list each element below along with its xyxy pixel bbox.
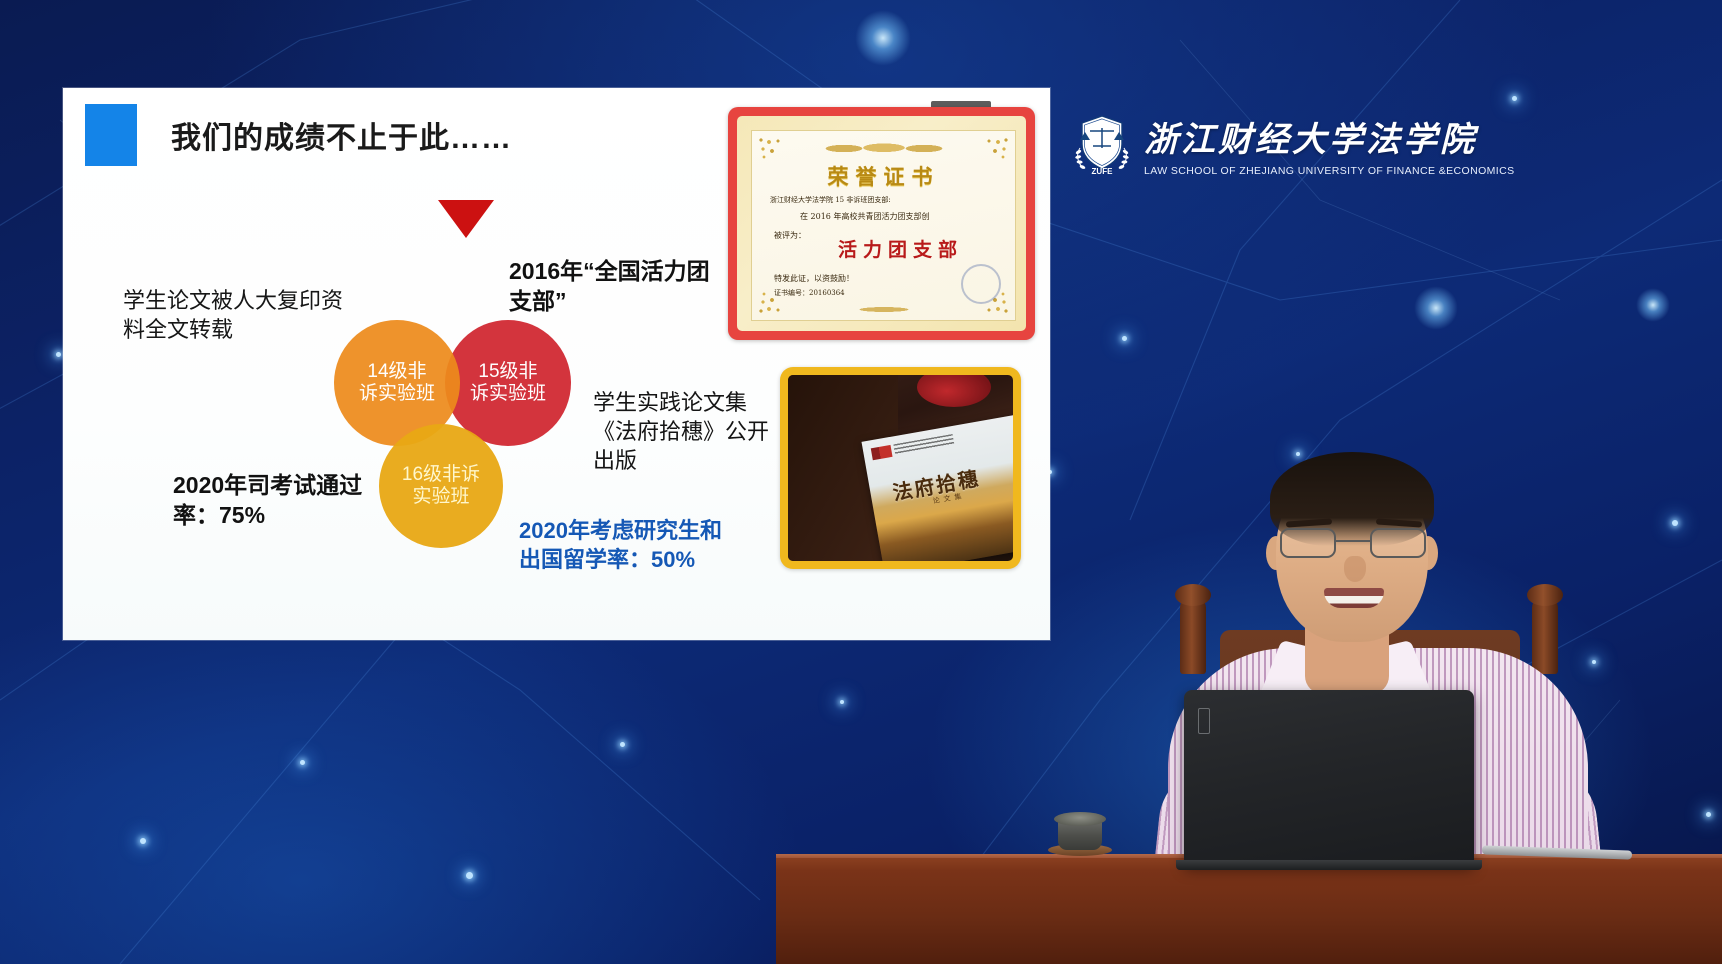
certificate-line-3: 被评为：: [774, 230, 806, 241]
svg-text:ZUFE: ZUFE: [1092, 167, 1114, 176]
slide-title-row: 我们的成绩不止于此……: [85, 104, 512, 166]
callout-graduate-study: 2020年考虑研究生和出国留学率：50%: [519, 516, 734, 574]
book-photo: 法府拾穗 论 文 集: [788, 375, 1013, 561]
venn-label-class16: 16级非诉实验班: [393, 464, 489, 509]
certificate-title: 荣誉证书: [828, 161, 940, 191]
logo-chinese-name: 浙江财经大学法学院: [1144, 112, 1514, 161]
certificate-mat: 荣誉证书 浙江财经大学法学院 15 非诉班团支部: 在 2016 年高校共青团活…: [737, 116, 1026, 331]
certificate-bottom-ornament-icon: [841, 305, 927, 314]
certificate-corner-ornament-icon: [979, 137, 1009, 163]
certificate-line-1: 浙江财经大学法学院 15 非诉班团支部:: [770, 195, 891, 205]
callout-book-published: 学生实践论文集《法府拾穗》公开出版: [593, 388, 783, 475]
venn-circle-class16: 16级非诉实验班: [379, 424, 503, 548]
publisher-badge-icon: [871, 445, 893, 460]
certificate-top-ornament-icon: [804, 141, 964, 156]
presenter-mouth: [1324, 588, 1384, 608]
certificate-page: 荣誉证书 浙江财经大学法学院 15 非诉班团支部: 在 2016 年高校共青团活…: [751, 130, 1016, 321]
lecture-desk: [776, 858, 1722, 964]
tea-cup-lid: [1054, 812, 1106, 826]
callout-paper-reprint: 学生论文被人大复印资料全文转载: [123, 286, 363, 344]
laptop-brand-logo-icon: [1198, 708, 1210, 734]
venn-circle-class15: 15级非诉实验班: [445, 320, 571, 446]
certificate-photo: 荣誉证书 浙江财经大学法学院 15 非诉班团支部: 在 2016 年高校共青团活…: [728, 107, 1035, 340]
certificate-line-5: 证书编号：20160364: [774, 288, 845, 298]
certificate-seal-icon: [961, 264, 1001, 304]
certificate-line-4: 特发此证，以资鼓励！: [774, 273, 854, 284]
certificate-line-2: 在 2016 年高校共青团活力团支部创: [800, 211, 929, 222]
chair-finial-right: [1532, 596, 1558, 674]
glasses-bridge: [1336, 540, 1370, 542]
presenter-nose: [1344, 556, 1366, 582]
shield-scales-laurel-icon: ZUFE: [1074, 114, 1130, 176]
glasses-lens-right: [1370, 528, 1426, 558]
venn-label-class15: 15级非诉实验班: [469, 361, 547, 406]
title-accent-bar: [85, 104, 137, 166]
glasses-lens-left: [1280, 528, 1336, 558]
publisher-text-block: [893, 434, 954, 454]
laptop-lid: [1184, 690, 1474, 866]
red-triangle-icon: [438, 200, 494, 238]
laptop-base: [1176, 860, 1482, 870]
video-stage: 我们的成绩不止于此…… 14级非诉实验班 15级非诉实验班 16级非诉实验班 学…: [0, 0, 1722, 964]
venn-label-class14: 14级非诉实验班: [358, 361, 436, 406]
chair-finial-left: [1180, 596, 1206, 674]
photo-red-object: [917, 375, 991, 407]
certificate-award-name: 活力团支部: [838, 235, 963, 262]
page-title: 我们的成绩不止于此……: [171, 113, 512, 157]
logo-english-name: LAW SCHOOL OF ZHEJIANG UNIVERSITY OF FIN…: [1144, 165, 1514, 177]
certificate-corner-ornament-icon: [758, 137, 788, 163]
callout-bar-exam: 2020年司考试通过率：75%: [173, 470, 393, 531]
school-logo: ZUFE 浙江财经大学法学院 LAW SCHOOL OF ZHEJIANG UN…: [1074, 112, 1514, 177]
presentation-slide: 我们的成绩不止于此…… 14级非诉实验班 15级非诉实验班 16级非诉实验班 学…: [63, 88, 1050, 640]
callout-2016-branch: 2016年“全国活力团支部”: [509, 256, 724, 317]
book-photo-frame: 法府拾穗 论 文 集: [780, 367, 1021, 569]
logo-text-block: 浙江财经大学法学院 LAW SCHOOL OF ZHEJIANG UNIVERS…: [1144, 112, 1514, 177]
